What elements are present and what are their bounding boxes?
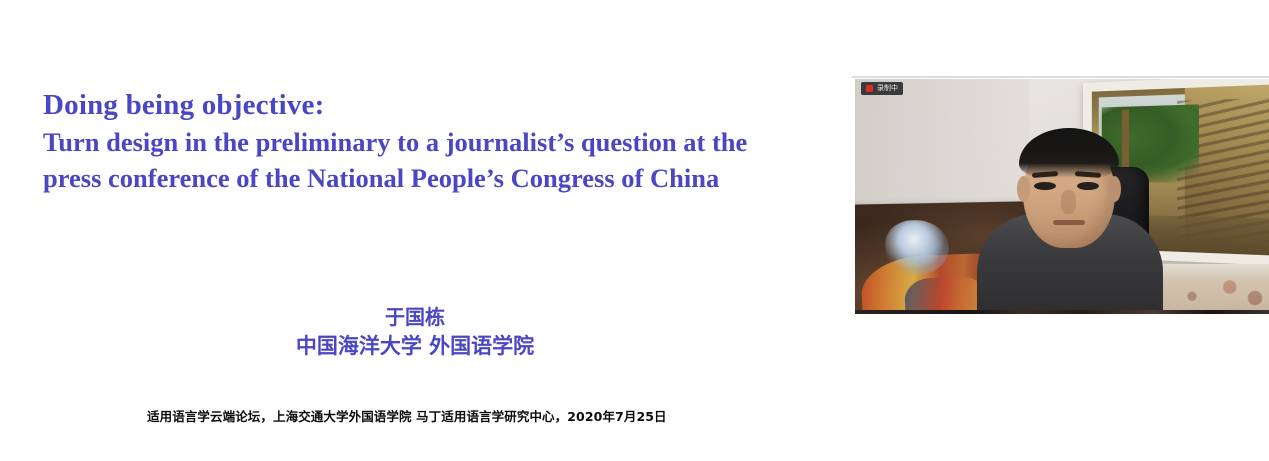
speaker-eye-right [1077, 182, 1099, 190]
presentation-slide: Doing being objective: Turn design in th… [0, 0, 1269, 461]
speaker-ear-left [1017, 176, 1030, 202]
slide-title-block: Doing being objective: Turn design in th… [43, 86, 833, 196]
speaker-hair [1019, 128, 1119, 178]
recording-badge-label: 录制中 [877, 82, 898, 95]
speaker-mouth [1053, 220, 1085, 225]
title-line-sub-2: press conference of the National People’… [43, 160, 833, 196]
title-line-sub-1: Turn design in the preliminary to a jour… [43, 124, 833, 160]
speaker-ear-right [1108, 176, 1121, 202]
author-block: 于国栋 中国海洋大学 外国语学院 [0, 303, 830, 361]
slide-footer: 适用语言学云端论坛，上海交通大学外国语学院 马丁适用语言学研究中心，2020年7… [147, 408, 667, 426]
video-bottom-divider [855, 310, 1269, 314]
record-indicator-icon [866, 85, 873, 92]
author-name: 于国栋 [0, 303, 830, 331]
video-top-divider [852, 76, 1269, 78]
title-line-main: Doing being objective: [43, 86, 833, 124]
speaker-eye-left [1034, 182, 1056, 190]
recording-badge: 录制中 [861, 82, 903, 95]
author-affiliation: 中国海洋大学 外国语学院 [0, 331, 830, 361]
speaker-figure [975, 114, 1165, 310]
video-conference-panel[interactable]: 录制中 [855, 79, 1269, 310]
speaker-nose [1061, 190, 1076, 214]
